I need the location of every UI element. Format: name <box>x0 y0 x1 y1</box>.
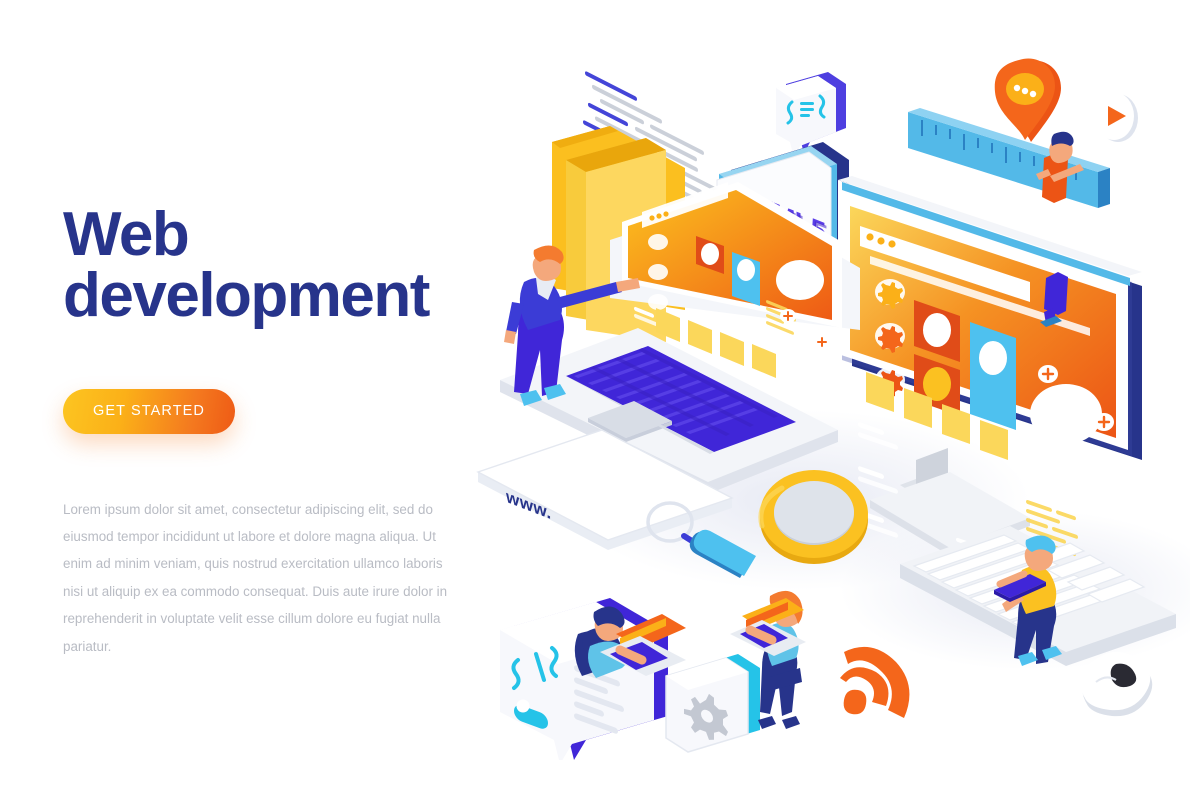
location-pin-icon <box>995 58 1061 142</box>
wifi-icon <box>840 647 909 718</box>
settings-card <box>666 654 760 752</box>
page-title-line-2: development <box>63 266 483 327</box>
code-bubble-icon <box>776 72 846 158</box>
play-button-icon <box>1094 92 1138 142</box>
page-title-line-1: Web <box>63 200 188 269</box>
hero-copy-column: Web development GET STARTED Lorem ipsum … <box>63 205 483 660</box>
web-development-illustration: HTML5 HTML5 <box>470 30 1190 760</box>
get-started-button[interactable]: GET STARTED <box>63 389 235 434</box>
ruler <box>908 108 1110 208</box>
page-title: Web development <box>63 205 483 327</box>
hero-body-text: Lorem ipsum dolor sit amet, consectetur … <box>63 496 463 661</box>
hero-page: Web development GET STARTED Lorem ipsum … <box>0 0 1200 800</box>
chat-code-panel <box>500 598 668 760</box>
